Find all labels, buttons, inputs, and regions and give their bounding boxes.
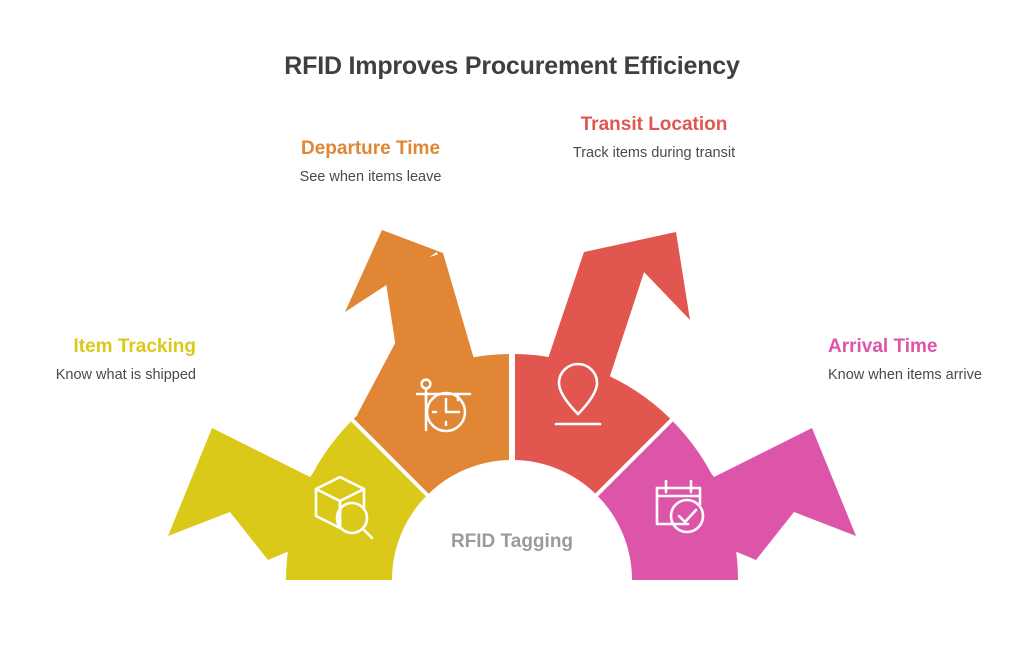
label-transit-location-desc: Track items during transit <box>564 144 744 163</box>
label-arrival-time: Arrival Time Know when items arrive <box>828 334 1018 385</box>
label-item-tracking-title: Item Tracking <box>15 334 196 359</box>
center-label: RFID Tagging <box>382 531 642 553</box>
rfid-arc-diagram <box>0 0 1024 655</box>
label-departure-time-desc: See when items leave <box>268 168 473 187</box>
label-departure-time-title: Departure Time <box>268 136 473 161</box>
label-arrival-time-desc: Know when items arrive <box>828 366 1018 385</box>
label-item-tracking-desc: Know what is shipped <box>15 366 196 385</box>
label-transit-location: Transit Location Track items during tran… <box>564 112 744 163</box>
label-arrival-time-title: Arrival Time <box>828 334 1018 359</box>
label-transit-location-title: Transit Location <box>564 112 744 137</box>
label-departure-time: Departure Time See when items leave <box>268 136 473 187</box>
label-item-tracking: Item Tracking Know what is shipped <box>15 334 196 385</box>
infographic-canvas: RFID Improves Procurement Efficiency <box>0 0 1024 655</box>
